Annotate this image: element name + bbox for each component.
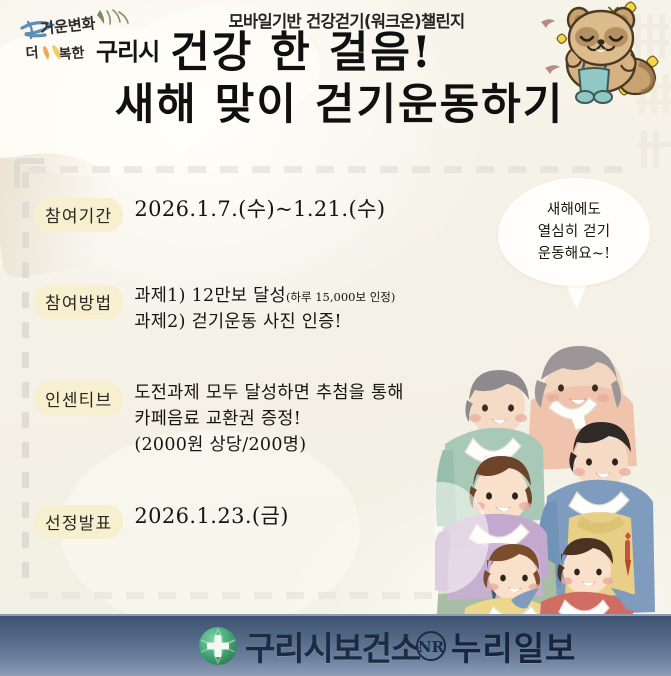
info-label-incentive: 인센티브 — [34, 382, 123, 416]
green-cross-sphere-icon — [196, 624, 240, 668]
info-value-announcement: 2026.1.23.(금) — [134, 503, 288, 530]
speech-bubble: 새해에도 열심히 걷기 운동해요~! — [498, 178, 650, 286]
footer-brand-health-center: 구리시보건소 — [196, 622, 420, 670]
info-row-participation-period: 참여기간 2026.1.7.(수)~1.21.(수) — [34, 196, 500, 232]
info-line: 2026.1.7.(수)~1.21.(수) — [134, 196, 385, 223]
info-line: 카페음료 교환권 증정! — [134, 406, 403, 432]
frame-dashed-top — [28, 166, 628, 173]
info-value-incentive: 도전과제 모두 달성하면 추첨을 통해 카페음료 교환권 증정! (2000원 … — [134, 380, 403, 459]
footer-newspaper-label: 누리일보 — [451, 622, 576, 670]
speech-bubble-text: 새해에도 열심히 걷기 운동해요~! — [538, 199, 611, 265]
info-line: (2000원 상당/200명) — [134, 432, 403, 458]
footer-health-center-label: 구리시보건소 — [245, 622, 420, 670]
info-label-how-to-participate: 참여방법 — [34, 285, 123, 319]
info-line: 과제1) 12만보 달성(하루 15,000보 인정) — [134, 283, 395, 309]
nr-logo-text: NR — [418, 638, 445, 656]
info-row-how-to-participate: 참여방법 과제1) 12만보 달성(하루 15,000보 인정) 과제2) 걷기… — [34, 283, 500, 336]
info-value-participation-period: 2026.1.7.(수)~1.21.(수) — [134, 196, 385, 223]
info-rows-container: 참여기간 2026.1.7.(수)~1.21.(수) 참여방법 과제1) 12만… — [0, 196, 500, 539]
info-value-how-to-participate: 과제1) 12만보 달성(하루 15,000보 인정) 과제2) 걷기운동 사진… — [134, 283, 395, 336]
poster-canvas: 거운변화 더 복한 구리시 모바일기반 건강걷기(워크온)챌린지 건강 한 걸음… — [0, 0, 671, 676]
info-row-announcement: 선정발표 2026.1.23.(금) — [34, 503, 500, 539]
info-line-text: 과제1) 12만보 달성 — [134, 286, 286, 306]
info-line: 과제2) 걷기운동 사진 인증! — [134, 309, 395, 335]
poster-footer: 구리시보건소 NR 누리일보 — [0, 614, 671, 676]
info-label-participation-period: 참여기간 — [34, 198, 123, 232]
korean-family-illustration — [435, 288, 671, 618]
info-line-note: (하루 15,000보 인정) — [286, 290, 395, 304]
info-row-incentive: 인센티브 도전과제 모두 달성하면 추첨을 통해 카페음료 교환권 증정! (2… — [34, 380, 500, 459]
poster-header: 거운변화 더 복한 구리시 모바일기반 건강걷기(워크온)챌린지 건강 한 걸음… — [0, 0, 671, 165]
info-label-announcement: 선정발표 — [34, 505, 123, 539]
nuri-ilbo-nr-logo-icon: NR — [414, 629, 448, 663]
info-line: 2026.1.23.(금) — [134, 503, 288, 530]
info-line: 도전과제 모두 달성하면 추첨을 통해 — [134, 380, 403, 406]
raccoon-mascot-icon — [535, 0, 667, 106]
